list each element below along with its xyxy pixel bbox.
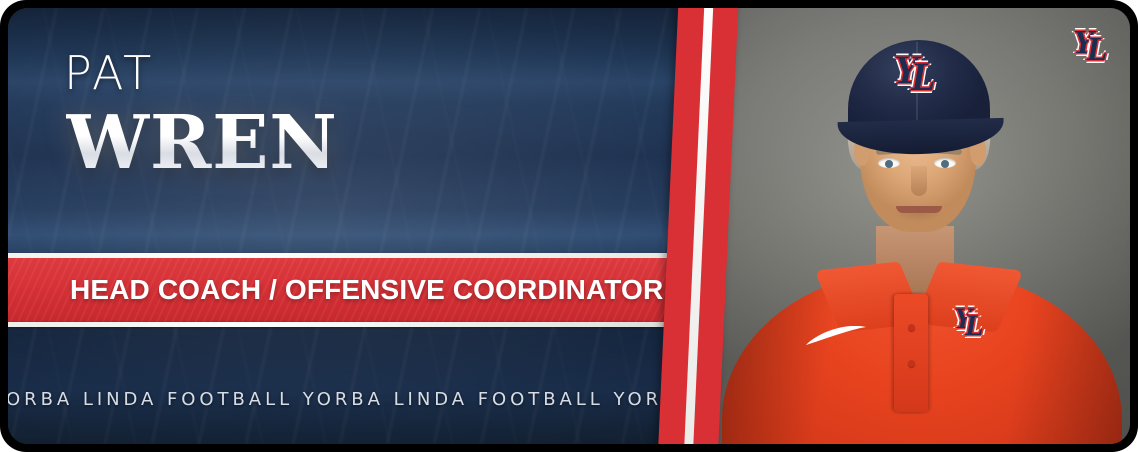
shirt-button xyxy=(908,360,915,367)
nike-swoosh-icon xyxy=(804,326,868,350)
card-inner: YL YL YL PAT WREN HEAD COACH / OFFENSIVE… xyxy=(8,8,1130,444)
yl-logo-letter-l: L xyxy=(1087,33,1106,67)
pupil-left xyxy=(885,160,893,168)
shirt-button xyxy=(908,324,915,331)
pupil-right xyxy=(941,160,949,168)
chin-shading xyxy=(886,212,952,234)
shirt-placket xyxy=(894,294,928,412)
yl-logo-cap-icon: YL xyxy=(894,50,940,90)
coach-first-name: PAT xyxy=(64,46,154,100)
ticker-text: YORBA LINDA FOOTBALL YORBA LINDA FOOTBAL… xyxy=(8,389,708,410)
yl-logo-letter-l: L xyxy=(965,311,982,341)
coach-photo: YL YL YL xyxy=(708,8,1130,444)
ticker-strip: YORBA LINDA FOOTBALL YORBA LINDA FOOTBAL… xyxy=(8,382,708,416)
yl-logo-letter-l: L xyxy=(911,57,934,97)
yl-logo-chest-icon: YL xyxy=(954,304,988,334)
band-rule-bottom xyxy=(8,322,700,327)
coach-role-title: HEAD COACH / OFFENSIVE COORDINATOR xyxy=(8,258,698,322)
coach-profile-card: YL YL YL PAT WREN HEAD COACH / OFFENSIVE… xyxy=(0,0,1138,452)
coach-portrait-figure: YL YL xyxy=(708,8,1130,444)
nose xyxy=(911,166,927,196)
coach-last-name: WREN xyxy=(66,100,338,186)
yl-logo-corner-icon: YL xyxy=(1073,26,1112,60)
